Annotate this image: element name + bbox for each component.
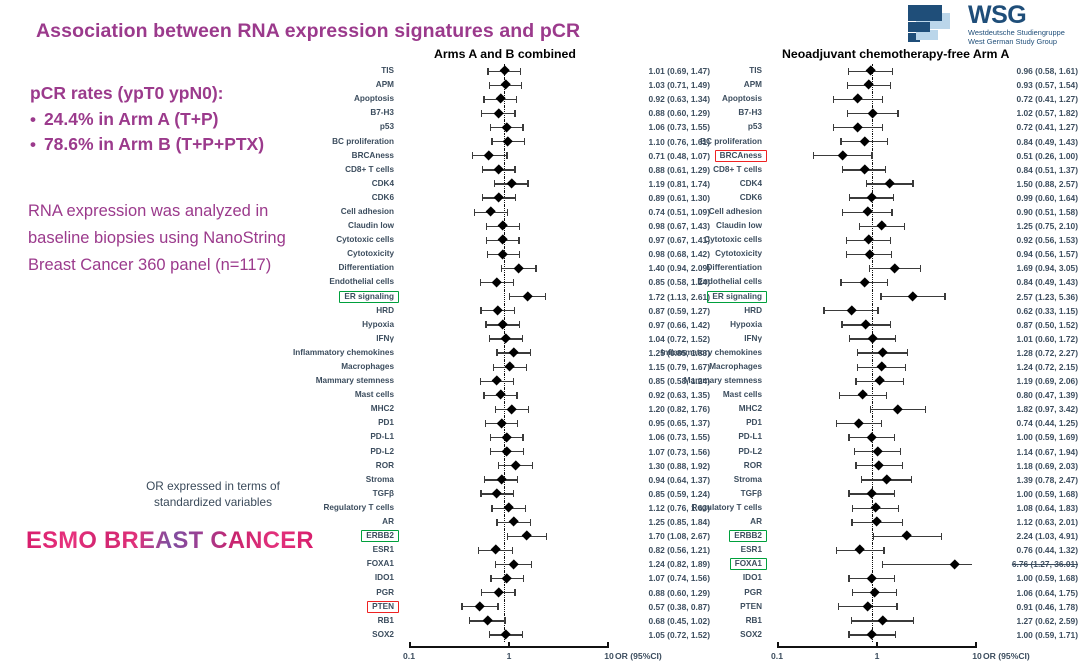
confidence-interval-cap [481,110,482,117]
confidence-interval-cap [532,462,533,469]
forest-row-label: Cell adhesion [630,206,772,218]
forest-row-label: Differentiation [630,262,772,274]
point-estimate-marker [867,488,878,499]
highlight-box-green: ERBB2 [729,530,767,542]
confidence-interval-cap [881,420,882,427]
confidence-interval-cap [912,180,913,187]
label-text: CD8+ T cells [708,164,767,176]
forest-row-label: TGFβ [262,488,404,500]
point-estimate-marker [474,601,485,612]
forest-row-label: Endothelial cells [262,276,404,288]
forest-row: ROR1.18 (0.69, 2.03) [630,459,1080,473]
forest-row-label: Apoptosis [630,93,772,105]
confidence-interval-cap [894,490,895,497]
forest-row-plot [404,515,604,529]
point-estimate-marker [877,615,888,626]
forest-row-label: SOX2 [262,629,404,641]
forest-row-label: Regulatory T cells [262,502,404,514]
point-estimate-marker [893,404,904,415]
forest-row-plot [772,191,972,205]
label-text: Hypoxia [357,319,399,331]
forest-row-plot [404,571,604,585]
label-text: Mammary stemness [311,375,399,387]
label-text: PD-L1 [365,431,399,443]
forest-row-plot [404,318,604,332]
forest-row-plot [772,473,972,487]
forest-row-plot [772,247,972,261]
forest-row-label: Mast cells [262,389,404,401]
bullet-marker-icon: • [30,107,36,132]
confidence-interval-cap [882,561,883,568]
forest-row-label: IFNγ [630,333,772,345]
forest-row-plot [772,78,972,92]
forest-row-plot [404,134,604,148]
forest-row-plot [772,614,972,628]
label-text: CDK6 [735,192,767,204]
label-text: PD-L2 [733,446,767,458]
x-axis-tick-label: 10 [972,651,982,661]
label-text: TGFβ [736,488,767,500]
forest-row-label: Claudin low [262,220,404,232]
point-estimate-marker [499,66,510,77]
confidence-interval-cap [514,589,515,596]
confidence-interval-cap [896,589,897,596]
confidence-interval-cap [870,406,871,413]
confidence-interval-cap [525,505,526,512]
forest-row-plot [404,290,604,304]
forest-row: PD-L21.14 (0.67, 1.94) [630,445,1080,459]
forest-row-plot [772,290,972,304]
point-estimate-marker [508,348,519,359]
forest-row-value: 0.96 (0.58, 1.61) [972,66,1078,76]
forest-row-value: 1.00 (0.59, 1.69) [972,432,1078,442]
forest-row-value: 1.06 (0.64, 1.75) [972,588,1078,598]
forest-row-label: Macrophages [262,361,404,373]
confidence-interval-cap [513,279,514,286]
label-text: TIS [744,65,767,77]
forest-row-plot [772,304,972,318]
confidence-interval-cap [911,476,912,483]
point-estimate-marker [505,362,516,373]
forest-row-label: CDK6 [630,192,772,204]
label-text: IDO1 [370,572,399,584]
confidence-interval-cap [495,561,496,568]
forest-row-value: 0.94 (0.56, 1.57) [972,249,1078,259]
forest-row: APM0.93 (0.57, 1.54) [630,78,1080,92]
forest-row-value: 1.14 (0.67, 1.94) [972,447,1078,457]
pcr-bullet-arm-b-label: 78.6% in Arm B (T+P+PTX) [44,132,264,157]
forest-row-label: TGFβ [630,488,772,500]
forest-row-plot [772,360,972,374]
point-estimate-marker [492,277,503,288]
confidence-interval-cap [520,68,521,75]
forest-row-plot [772,529,972,543]
forest-row-plot [772,219,972,233]
confidence-interval-cap [501,265,502,272]
confidence-interval-cap [836,420,837,427]
forest-row: Mast cells0.80 (0.47, 1.39) [630,388,1080,402]
confidence-interval-cap [519,321,520,328]
forest-row-plot [772,571,972,585]
reference-line [872,557,873,571]
point-estimate-marker [854,418,865,429]
forest-row-value: 6.76 (1.27, 36.01) [972,559,1078,569]
confidence-interval-cap [480,279,481,286]
forest-row-value: 1.27 (0.62, 2.59) [972,616,1078,626]
forest-row-label: Claudin low [630,220,772,232]
forest-row-value: 1.28 (0.72, 2.27) [972,348,1078,358]
point-estimate-marker [852,122,863,133]
label-text: PD1 [741,417,767,429]
confidence-interval-cap [546,533,547,540]
point-estimate-marker [874,376,885,387]
forest-row: HRD0.62 (0.33, 1.15) [630,304,1080,318]
highlight-box-red: PTEN [367,601,399,613]
confidence-interval-cap [869,265,870,272]
forest-row: Stroma1.39 (0.78, 2.47) [630,473,1080,487]
point-estimate-marker [500,80,511,91]
forest-row-plot [404,430,604,444]
forest-row: Macrophages1.24 (0.72, 2.15) [630,360,1080,374]
forest-row-plot [772,430,972,444]
confidence-interval-cap [848,631,849,638]
forest-row: Hypoxia0.87 (0.50, 1.52) [630,318,1080,332]
confidence-interval-cap [480,307,481,314]
forest-rows-arm-a: TIS0.96 (0.58, 1.61)APM0.93 (0.57, 1.54)… [630,64,1080,642]
forest-row-plot [404,388,604,402]
forest-row-plot [772,515,972,529]
forest-row-value: 0.84 (0.51, 1.37) [972,165,1078,175]
confidence-interval-cap [905,364,906,371]
confidence-interval-cap [495,406,496,413]
forest-row-label: FOXA1 [262,558,404,570]
forest-row-value: 0.51 (0.26, 1.00) [972,151,1078,161]
confidence-interval-cap [490,434,491,441]
forest-row-label: Mammary stemness [630,375,772,387]
forest-row-plot [772,134,972,148]
point-estimate-marker [857,390,868,401]
label-text: BRCAness [347,150,399,162]
point-estimate-marker [908,291,919,302]
confidence-interval-cap [487,68,488,75]
confidence-interval-cap [857,364,858,371]
label-text: HRD [371,305,399,317]
forest-row-plot [404,529,604,543]
point-estimate-marker [501,629,512,640]
forest-row-plot [772,374,972,388]
label-text: TGFβ [368,488,399,500]
forest-row: Cell adhesion0.90 (0.51, 1.58) [630,205,1080,219]
highlight-box-green: ER signaling [339,291,399,303]
forest-row-value: 1.50 (0.88, 2.57) [972,179,1078,189]
wsg-subtitle-de: Westdeutsche Studiengruppe [968,28,1065,37]
confidence-interval-cap [846,251,847,258]
x-axis-tick-label: 1 [875,651,880,661]
forest-row-value: 1.00 (0.59, 1.68) [972,489,1078,499]
confidence-interval-cap [517,420,518,427]
forest-row-label: FOXA1 [630,558,772,570]
forest-row-plot [772,163,972,177]
forest-row: MHC21.82 (0.97, 3.42) [630,402,1080,416]
confidence-interval-cap [474,209,475,216]
pcr-bullet-arm-a-label: 24.4% in Arm A (T+P) [44,107,219,132]
forest-row-value: 0.90 (0.51, 1.58) [972,207,1078,217]
label-text: Regulatory T cells [318,502,399,514]
forest-row-plot [404,120,604,134]
label-text: p53 [375,121,399,133]
confidence-interval-cap [484,476,485,483]
label-text: Mammary stemness [679,375,767,387]
confidence-interval-cap [481,589,482,596]
forest-row: RB11.27 (0.62, 2.59) [630,614,1080,628]
label-text: PGR [371,587,399,599]
forest-row-plot [404,191,604,205]
forest-row-plot [404,177,604,191]
confidence-interval-cap [842,209,843,216]
forest-row-value: 0.76 (0.44, 1.32) [972,545,1078,555]
x-axis-tickmark [876,642,878,648]
point-estimate-marker [837,150,848,161]
point-estimate-marker [508,517,519,528]
forest-row-label: PTEN [262,601,404,613]
confidence-interval-cap [891,251,892,258]
forest-row-label: AR [262,516,404,528]
highlight-box-green: ERBB2 [361,530,399,542]
forest-row-value: 0.93 (0.57, 1.54) [972,80,1078,90]
label-text: ESR1 [368,544,399,556]
label-text: B7-H3 [365,107,399,119]
forest-row-plot [772,261,972,275]
confidence-interval-cap [873,533,874,540]
forest-row: Claudin low1.25 (0.75, 2.10) [630,219,1080,233]
confidence-interval-cap [848,68,849,75]
label-text: Macrophages [704,361,767,373]
forest-row-plot [772,487,972,501]
label-text: Claudin low [343,220,399,232]
forest-row-value: 1.00 (0.59, 1.68) [972,573,1078,583]
confidence-interval-cap [491,138,492,145]
label-text: HRD [739,305,767,317]
confidence-interval-cap [854,448,855,455]
forest-row-label: CDK6 [262,192,404,204]
forest-row-plot [772,585,972,599]
forest-row-label: ERBB2 [630,530,772,542]
point-estimate-marker [500,333,511,344]
forest-row-label: TIS [262,65,404,77]
forest-row-plot [404,304,604,318]
confidence-interval-cap [509,293,510,300]
point-estimate-marker [866,192,877,203]
point-estimate-marker [865,66,876,77]
forest-row-label: PD-L1 [262,431,404,443]
confidence-interval-cap [882,96,883,103]
forest-row-label: MHC2 [630,403,772,415]
label-text: APM [739,79,767,91]
forest-row: B7-H31.02 (0.57, 1.82) [630,106,1080,120]
label-text: PGR [739,587,767,599]
point-estimate-marker [482,615,493,626]
forest-row: TIS0.96 (0.58, 1.61) [630,64,1080,78]
forest-row-plot [404,600,604,614]
forest-row-value: 0.99 (0.60, 1.64) [972,193,1078,203]
confidence-interval-cap [893,194,894,201]
forest-row: BC proliferation0.84 (0.49, 1.43) [630,134,1080,148]
forest-row-plot [772,64,972,78]
forest-row: CDK60.99 (0.60, 1.64) [630,191,1080,205]
x-axis-tickmark [975,642,977,648]
forest-row-label: ER signaling [630,291,772,303]
forest-row-plot [404,64,604,78]
label-text: BC proliferation [695,136,767,148]
forest-row-plot [404,628,604,642]
forest-row-label: B7-H3 [262,107,404,119]
forest-row-value: 1.25 (0.75, 2.10) [972,221,1078,231]
x-axis-tickmark [409,642,411,648]
confidence-interval-cap [494,180,495,187]
forest-row: PD10.74 (0.44, 1.25) [630,416,1080,430]
forest-row-plot [404,219,604,233]
forest-row-label: PD1 [262,417,404,429]
confidence-interval-cap [847,110,848,117]
label-text: AR [377,516,399,528]
forest-row-label: PTEN [630,601,772,613]
x-axis-caption: OR (95%CI) [615,651,662,661]
point-estimate-marker [498,221,509,232]
confidence-interval-cap [480,490,481,497]
confidence-interval-cap [497,603,498,610]
forest-row-plot [404,614,604,628]
label-text: Endothelial cells [692,276,767,288]
forest-row-label: ERBB2 [262,530,404,542]
label-text: Mast cells [350,389,399,401]
forest-row-plot [404,261,604,275]
confidence-interval-cap [941,533,942,540]
confidence-interval-cap [514,166,515,173]
forest-row-label: Apoptosis [262,93,404,105]
forest-row-plot [772,120,972,134]
confidence-interval-cap [836,547,837,554]
forest-row-label: CDK4 [630,178,772,190]
forest-row-label: B7-H3 [630,107,772,119]
confidence-interval-cap [920,265,921,272]
forest-row-plot [772,205,972,219]
confidence-interval-cap [890,82,891,89]
forest-row-label: p53 [630,121,772,133]
point-estimate-marker [876,362,887,373]
confidence-interval-cap [461,603,462,610]
forest-row-value: 1.00 (0.59, 1.71) [972,630,1078,640]
confidence-interval-cap [904,223,905,230]
forest-row-label: Cytotoxicity [262,248,404,260]
confidence-interval-cap [848,575,849,582]
forest-row-plot [772,557,972,571]
confidence-interval-cap [890,237,891,244]
label-text: Inflammatory chemokines [656,347,767,359]
confidence-interval-cap [507,533,508,540]
forest-row-plot [772,92,972,106]
forest-row-plot [404,332,604,346]
highlight-box-green: ER signaling [707,291,767,303]
point-estimate-marker [852,94,863,105]
point-estimate-marker [498,249,509,260]
forest-row-value: 0.74 (0.44, 1.25) [972,418,1078,428]
confidence-interval-cap [907,349,908,356]
forest-row: Cytotoxic cells0.92 (0.56, 1.53) [630,233,1080,247]
point-estimate-marker [497,235,508,246]
confidence-interval-cap [823,307,824,314]
label-text: IFNγ [371,333,399,345]
confidence-interval-cap [516,96,517,103]
confidence-interval-cap [523,575,524,582]
forest-row-plot [772,106,972,120]
confidence-interval-cap [530,519,531,526]
forest-row-plot [404,106,604,120]
point-estimate-marker [493,587,504,598]
forest-row-label: PGR [630,587,772,599]
wsg-subtitle-en: West German Study Group [968,37,1065,46]
point-estimate-marker [522,531,533,542]
forest-row: Regulatory T cells1.08 (0.64, 1.83) [630,501,1080,515]
label-text: Apoptosis [349,93,399,105]
confidence-interval-cap [898,505,899,512]
forest-row-value: 0.84 (0.49, 1.43) [972,137,1078,147]
x-axis-tick-label: 1 [507,651,512,661]
forest-row-label: IDO1 [630,572,772,584]
forest-row-label: BRCAness [262,150,404,162]
label-text: SOX2 [367,629,399,641]
confidence-interval-cap [839,392,840,399]
confidence-interval-cap [535,265,536,272]
forest-row-value: 1.69 (0.94, 3.05) [972,263,1078,273]
point-estimate-marker [510,460,521,471]
confidence-interval-cap [491,505,492,512]
confidence-interval-cap [851,519,852,526]
label-text: PD-L1 [733,431,767,443]
forest-row: BRCAness0.51 (0.26, 1.00) [630,149,1080,163]
confidence-interval-cap [846,237,847,244]
point-estimate-marker [889,263,900,274]
forest-row-label: Cytotoxicity [630,248,772,260]
label-text: RB1 [373,615,399,627]
confidence-interval-cap [900,448,901,455]
confidence-interval-cap [897,110,898,117]
page-title: Association between RNA expression signa… [36,20,580,43]
x-axis-tickmark [607,642,609,648]
confidence-interval-cap [524,138,525,145]
confidence-interval-cap [838,603,839,610]
forest-row-plot [404,445,604,459]
label-text: ESR1 [736,544,767,556]
forest-row-label: RB1 [630,615,772,627]
label-text: Stroma [361,474,399,486]
reference-line [504,529,505,543]
forest-row-label: ROR [630,460,772,472]
forest-row-plot [404,247,604,261]
point-estimate-marker [508,559,519,570]
forest-row-plot [772,402,972,416]
forest-row-value: 1.08 (0.64, 1.83) [972,503,1078,513]
confidence-interval-cap [504,617,505,624]
forest-row-plot [772,346,972,360]
point-estimate-marker [493,108,504,119]
label-text: PD1 [373,417,399,429]
confidence-interval-cap [902,462,903,469]
confidence-interval-cap [887,279,888,286]
forest-row-label: APM [262,79,404,91]
label-text: MHC2 [366,403,399,415]
forest-row-label: BC proliferation [630,136,772,148]
confidence-interval-cap [483,392,484,399]
